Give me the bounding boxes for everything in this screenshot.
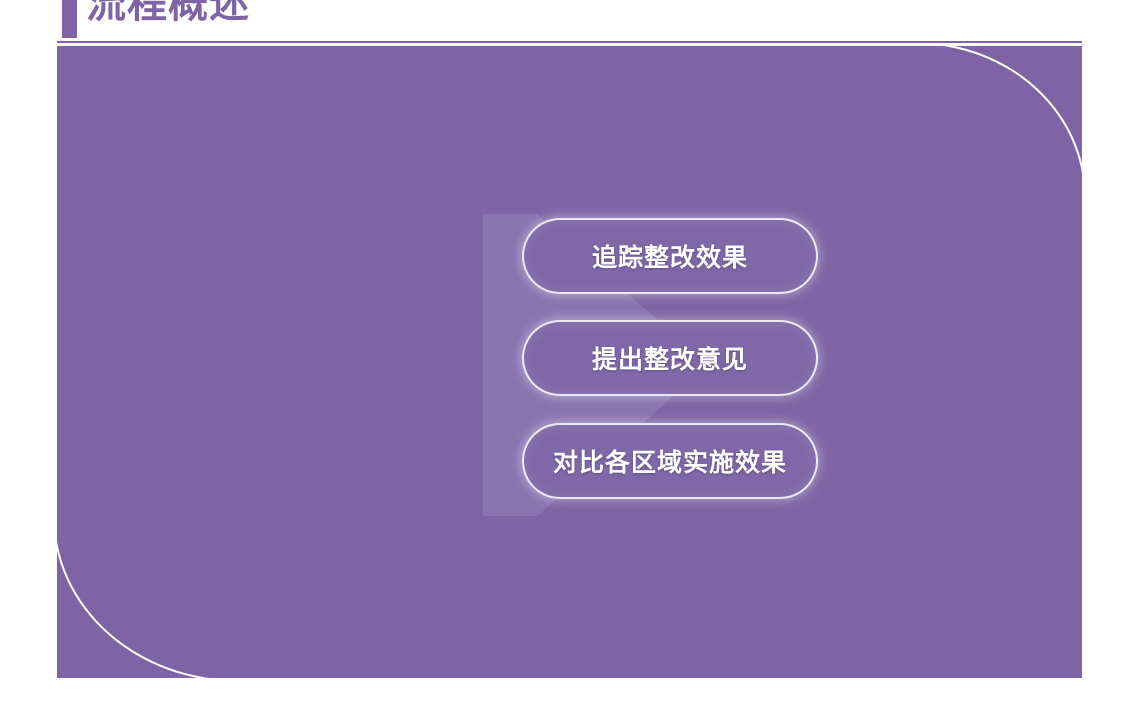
step-pill-1[interactable]: 追踪整改效果 xyxy=(522,218,818,294)
slide-canvas: 流程概述 追踪整改效果 提出整改意见 对比各区域实施效果 xyxy=(0,0,1137,715)
title-accent-bar xyxy=(62,0,77,38)
step-pill-2[interactable]: 提出整改意见 xyxy=(522,320,818,396)
step-pill-3[interactable]: 对比各区域实施效果 xyxy=(522,423,818,499)
corner-arc-top-right-stroke xyxy=(901,46,1082,207)
corner-arc-top-right xyxy=(901,46,1082,207)
step-pill-2-label: 提出整改意见 xyxy=(592,340,748,376)
step-pill-1-label: 追踪整改效果 xyxy=(592,238,748,274)
corner-arc-bottom-left-stroke xyxy=(57,507,253,678)
corner-arc-bottom-left xyxy=(57,507,253,678)
content-panel: 追踪整改效果 提出整改意见 对比各区域实施效果 xyxy=(57,46,1082,678)
title-divider xyxy=(57,41,1082,43)
step-pill-3-label: 对比各区域实施效果 xyxy=(553,443,787,479)
page-title: 流程概述 xyxy=(86,0,250,28)
slide-title-bar: 流程概述 xyxy=(0,0,1137,46)
